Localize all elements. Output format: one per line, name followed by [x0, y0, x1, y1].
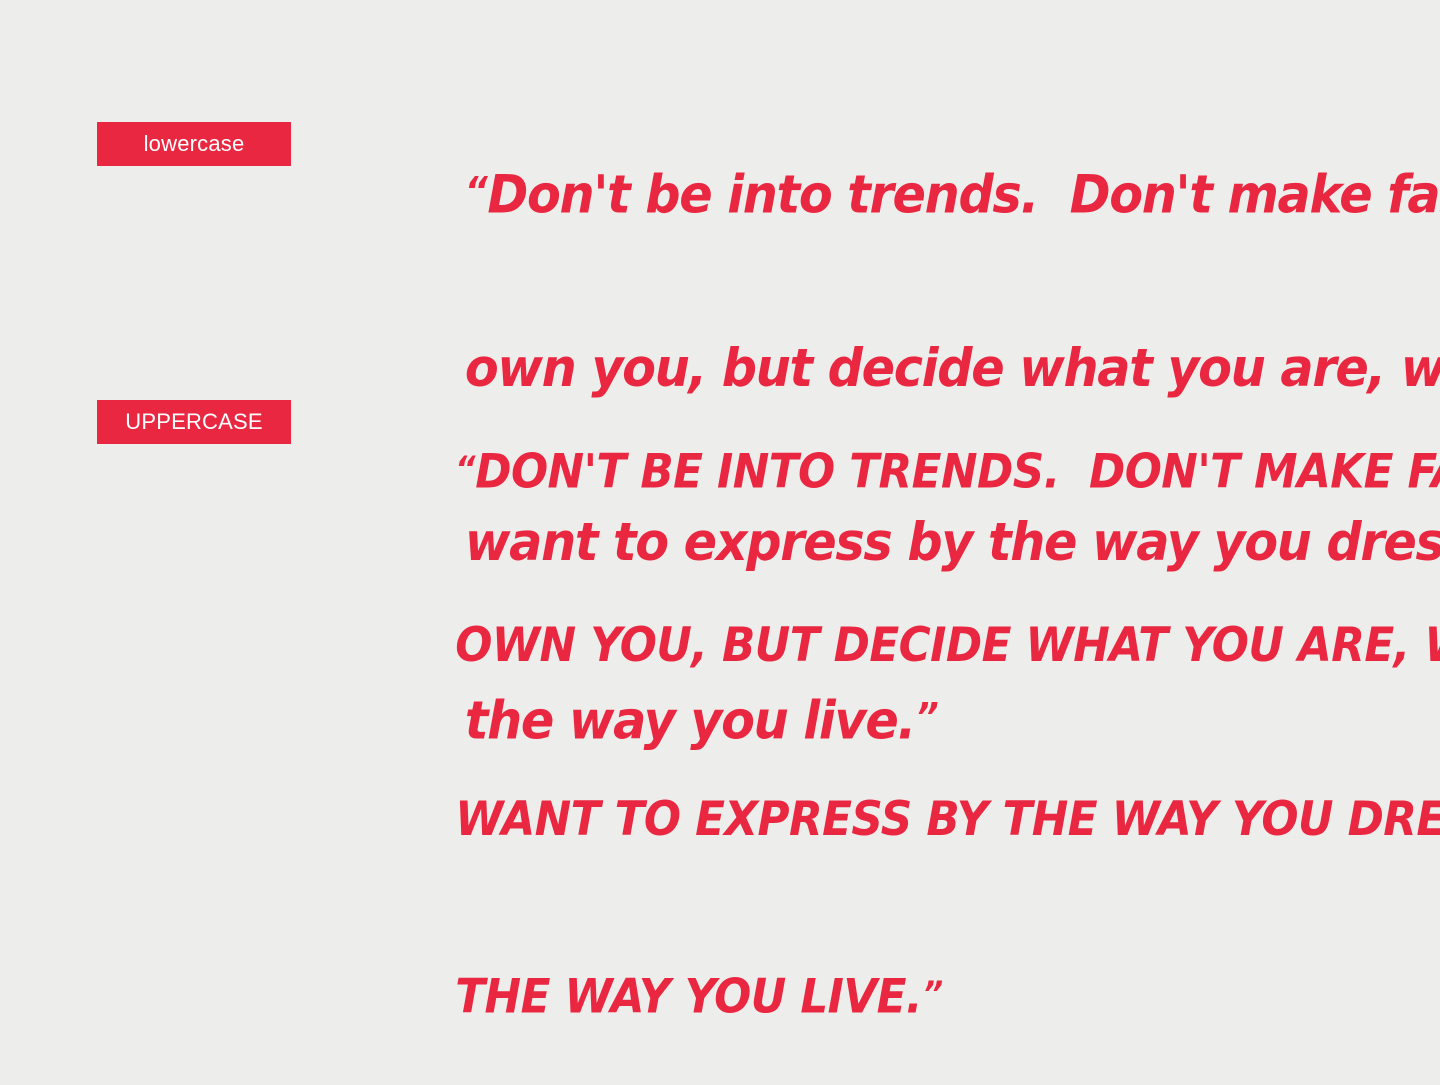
quote-line: OWN YOU, BUT DECIDE WHAT YOU ARE, WHAT Y…: [338, 559, 1277, 733]
quote-line: WANT TO EXPRESS BY THE WAY YOU DRESS AND: [338, 733, 1277, 907]
case-label-tag-uppercase: UPPERCASE: [97, 400, 291, 444]
quote-line-text: DON'T BE INTO TRENDS. DON'T MAKE FASHION: [475, 444, 1440, 499]
case-label-text: UPPERCASE: [125, 411, 263, 433]
quote-line-text: WANT TO EXPRESS BY THE WAY YOU DRESS AND: [455, 792, 1440, 847]
quote-line-text: Don't be into trends. Don't make fashion: [487, 164, 1440, 225]
quote-line-text: OWN YOU, BUT DECIDE WHAT YOU ARE, WHAT Y…: [455, 618, 1440, 673]
close-quote-mark: ”: [923, 974, 943, 1013]
font-specimen-page: lowercase “Don't be into trends. Don't m…: [0, 0, 1440, 720]
quote-line: “DON'T BE INTO TRENDS. DON'T MAKE FASHIO…: [338, 382, 1277, 559]
open-quote-mark: “: [455, 449, 475, 488]
open-quote-mark: “: [465, 169, 487, 213]
quote-line: “Don't be into trends. Don't make fashio…: [338, 104, 1277, 282]
quote-sample-uppercase: “DON'T BE INTO TRENDS. DON'T MAKE FASHIO…: [338, 382, 1277, 1085]
case-label-tag-lowercase: lowercase: [97, 122, 291, 166]
case-label-text: lowercase: [144, 133, 245, 155]
quote-line: THE WAY YOU LIVE.”: [338, 907, 1277, 1084]
quote-line-text: THE WAY YOU LIVE.: [455, 970, 922, 1025]
